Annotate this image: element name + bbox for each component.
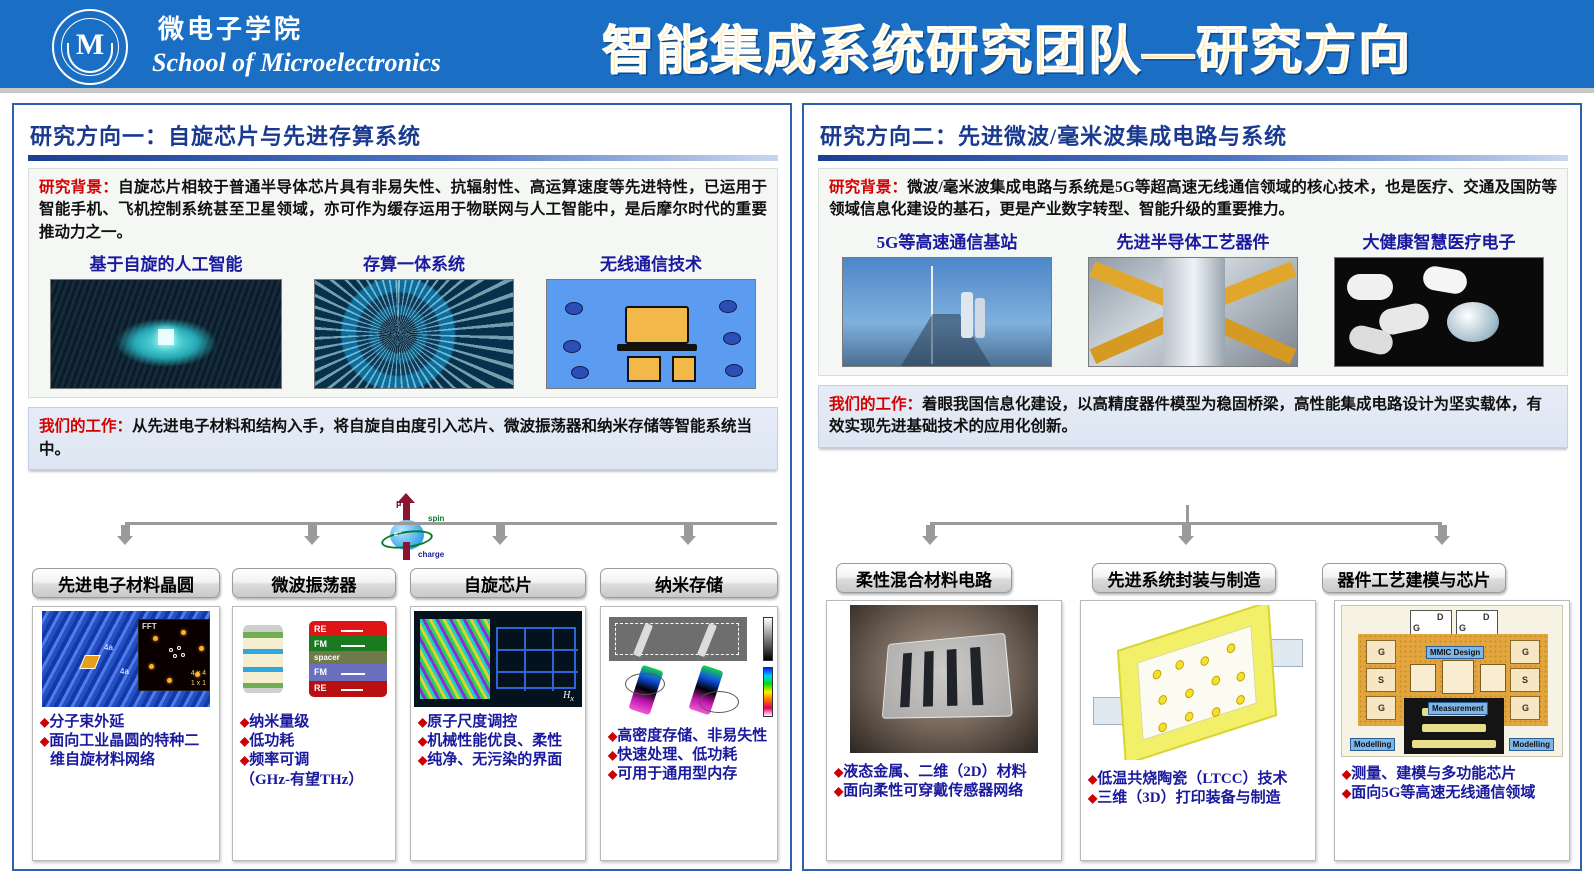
connector-arrow-r1 bbox=[926, 525, 935, 536]
tablet-shape bbox=[627, 356, 661, 382]
bullet-item: ◆三维（3D）打印装备与制造 bbox=[1088, 789, 1309, 808]
spin-charge-diagram: μ spin e⁻ charge bbox=[370, 498, 462, 560]
mmic-design-flow-image: G D S G D S G S G G S G MMIC Design bbox=[1341, 605, 1563, 757]
modelling-tag-right: Modelling bbox=[1509, 738, 1554, 751]
mail-icon bbox=[565, 302, 583, 315]
category-chip-advanced-wafer[interactable]: 先进电子材料晶圆 bbox=[32, 568, 220, 598]
page-title: 智能集成系统研究团队—研究方向 bbox=[441, 9, 1594, 84]
direction-2-rule bbox=[818, 155, 1568, 161]
school-emblem-logo: M bbox=[52, 9, 128, 85]
category-chip-system-packaging[interactable]: 先进系统封装与制造 bbox=[1092, 563, 1276, 593]
pencil-icon bbox=[719, 300, 737, 313]
direction-2-background-text: 研究背景：微波/毫米波集成电路与系统是5G等超高速无线通信领域的核心技术，也是医… bbox=[829, 177, 1557, 222]
card-bullets: ◆纳米量级 ◆低功耗 ◆频率可调 （GHz-有望THz） bbox=[233, 707, 395, 794]
card-figure bbox=[601, 607, 777, 721]
card-advanced-wafer: 4a 4a FFT 4 x 4 1 x 1 ◆分子束外延 ◆面向工业晶圆的特种二… bbox=[32, 606, 220, 861]
direction-1-title: 研究方向一：自旋芯片与先进存算系统 bbox=[30, 119, 778, 151]
ltcc-inner bbox=[1137, 625, 1257, 740]
highlight-ellipse-left bbox=[625, 673, 665, 695]
category-chip-nano-storage[interactable]: 纳米存储 bbox=[600, 568, 778, 598]
flex-sheet bbox=[882, 633, 1013, 719]
background-body: 微波/毫米波集成电路与系统是5G等超高速无线通信领域的核心技术，也是医疗、交通及… bbox=[829, 179, 1557, 218]
ltcc-module-image bbox=[1093, 605, 1303, 760]
card-bullets: ◆高密度存储、非易失性 ◆快速处理、低功耗 ◆可用于通用型内存 bbox=[601, 721, 777, 789]
header-divider bbox=[0, 88, 1594, 93]
grayscale-colorbar bbox=[763, 617, 773, 661]
spin-lattice-image: Hx bbox=[414, 611, 582, 707]
background-label: 研究背景： bbox=[829, 179, 907, 196]
card-nano-storage: ◆高密度存储、非易失性 ◆快速处理、低功耗 ◆可用于通用型内存 bbox=[600, 606, 778, 861]
fft-scale-1x1: 1 x 1 bbox=[191, 680, 206, 687]
domain-wall-image bbox=[603, 611, 775, 721]
category-chip-spin-chip[interactable]: 自旋芯片 bbox=[410, 568, 586, 598]
connector-arrow-4 bbox=[684, 525, 693, 536]
layer-label-fm-bottom: FM bbox=[314, 667, 327, 677]
direction-1-thumbnail-row: 基于自旋的人工智能 存算一体系统 无线通信技术 bbox=[39, 250, 767, 389]
layer-label-re-top: RE bbox=[314, 624, 327, 634]
card-bullets: ◆分子束外延 ◆面向工业晶圆的特种二维自旋材料网络 bbox=[33, 707, 219, 775]
connector-arrow-r2 bbox=[1182, 525, 1191, 536]
nano-pillar bbox=[243, 625, 283, 693]
layer-label-re-bottom: RE bbox=[314, 683, 327, 693]
work-label: 我们的工作： bbox=[39, 418, 132, 435]
direction-1-background-box: 研究背景：自旋芯片相较于普通半导体芯片具有非易失性、抗辐射性、高运算速度等先进特… bbox=[28, 168, 778, 398]
category-chip-microwave-oscillator[interactable]: 微波振荡器 bbox=[232, 568, 396, 598]
bullet-item: ◆液态金属、二维（2D）材料 bbox=[834, 763, 1055, 782]
thumbnail-caption: 基于自旋的人工智能 bbox=[50, 250, 282, 275]
unit-cell-marker bbox=[79, 655, 101, 669]
arrow-right-icon bbox=[341, 645, 365, 647]
bullet-item: ◆纳米量级 bbox=[240, 713, 389, 732]
card-figure: G D S G D S G S G G S G MMIC Design bbox=[1335, 601, 1569, 757]
card-bullets: ◆液态金属、二维（2D）材料 ◆面向柔性可穿戴传感器网络 bbox=[827, 753, 1061, 805]
thumbnail-caption: 无线通信技术 bbox=[546, 250, 756, 275]
card-figure: RE FM spacer FM RE bbox=[233, 607, 395, 707]
page-header: M 微电子学院 School of Microelectronics 智能集成系… bbox=[0, 0, 1594, 93]
fft-scale-4x4: 4 x 4 bbox=[191, 670, 206, 677]
category-chip-device-modeling[interactable]: 器件工艺建模与芯片 bbox=[1322, 563, 1506, 593]
card-bullets: ◆原子尺度调控 ◆机械性能优良、柔性 ◆纯净、无污染的界面 bbox=[411, 707, 585, 775]
bullet-item: ◆机械性能优良、柔性 bbox=[418, 732, 579, 751]
highlight-ellipse-right bbox=[699, 691, 739, 713]
arrow-left-icon bbox=[341, 630, 363, 632]
laptop-shape bbox=[625, 306, 689, 344]
phone-shape bbox=[672, 356, 696, 382]
thumbnail-caption: 存算一体系统 bbox=[314, 250, 514, 275]
doc-icon bbox=[723, 332, 741, 345]
bullet-item: ◆分子束外延 bbox=[40, 713, 213, 732]
direction-1-work-text: 我们的工作：从先进电子材料和结构入手，将自旋自由度引入芯片、微波振荡器和纳米存储… bbox=[39, 416, 767, 461]
card-system-packaging: ◆低温共烧陶瓷（LTCC）技术 ◆三维（3D）打印装备与制造 bbox=[1080, 600, 1316, 861]
card-bullets: ◆测量、建模与多功能芯片 ◆面向5G等高速无线通信领域 bbox=[1335, 757, 1569, 807]
school-name-block: 微电子学院 School of Microelectronics bbox=[152, 15, 441, 78]
bullet-item: ◆原子尺度调控 bbox=[418, 713, 579, 732]
thumbnail-caption: 先进半导体工艺器件 bbox=[1088, 228, 1298, 253]
direction-2-title: 研究方向二：先进微波/毫米波集成电路与系统 bbox=[820, 119, 1568, 151]
direction-1-background-text: 研究背景：自旋芯片相较于普通半导体芯片具有非易失性、抗辐射性、高运算速度等先进特… bbox=[39, 177, 767, 244]
modelling-tag-left: Modelling bbox=[1350, 738, 1395, 751]
stm-lattice-image: 4a 4a FFT 4 x 4 1 x 1 bbox=[42, 611, 210, 707]
card-figure: Hx bbox=[411, 607, 585, 707]
card-flexible-circuit: ◆液态金属、二维（2D）材料 ◆面向柔性可穿戴传感器网络 bbox=[826, 600, 1062, 861]
connector-arrow-3 bbox=[496, 525, 505, 536]
crystal-lattice bbox=[420, 619, 490, 699]
school-name-en: School of Microelectronics bbox=[152, 47, 441, 78]
bullet-item: ◆频率可调 bbox=[240, 751, 389, 770]
bullet-item: ◆面向柔性可穿戴传感器网络 bbox=[834, 782, 1055, 801]
laptop-base bbox=[617, 344, 697, 351]
category-chip-flexible-circuit[interactable]: 柔性混合材料电路 bbox=[836, 563, 1012, 593]
card-figure bbox=[1081, 601, 1315, 760]
school-name-cn: 微电子学院 bbox=[158, 15, 441, 45]
card-figure bbox=[827, 601, 1061, 753]
thumbnail-caption: 大健康智慧医疗电子 bbox=[1334, 228, 1544, 253]
thumbnail-ai-spin: 基于自旋的人工智能 bbox=[50, 250, 282, 389]
direction-2-background-box: 研究背景：微波/毫米波集成电路与系统是5G等超高速无线通信领域的核心技术，也是医… bbox=[818, 168, 1568, 376]
background-label: 研究背景： bbox=[39, 179, 118, 196]
thumbnail-semiconductor-device: 先进半导体工艺器件 bbox=[1088, 228, 1298, 367]
card-device-modeling: G D S G D S G S G G S G MMIC Design bbox=[1334, 600, 1570, 861]
connector-arrow-1 bbox=[121, 525, 130, 536]
rainbow-colorbar bbox=[763, 667, 773, 717]
spin-label-charge: charge bbox=[418, 550, 444, 559]
basestation-image bbox=[842, 257, 1052, 367]
connector-horizontal-left bbox=[125, 522, 777, 525]
thumbnail-caption: 5G等高速通信基站 bbox=[842, 228, 1052, 253]
magnetic-stack-image: RE FM spacer FM RE bbox=[235, 611, 393, 707]
circuit-grid bbox=[496, 627, 576, 689]
direction-1-work-box: 我们的工作：从先进电子材料和结构入手，将自旋自由度引入芯片、微波振荡器和纳米存储… bbox=[28, 407, 778, 470]
measurement-tag: Measurement bbox=[1428, 702, 1488, 715]
bullet-item: ◆面向工业晶圆的特种二维自旋材料网络 bbox=[40, 732, 213, 770]
connector-arrow-2 bbox=[308, 525, 317, 536]
mmic-design-tag: MMIC Design bbox=[1426, 646, 1484, 659]
fft-label: FFT bbox=[142, 622, 157, 631]
wireless-network-image bbox=[546, 279, 756, 389]
arrow-left-icon-2 bbox=[341, 689, 363, 691]
thumbnail-wireless: 无线通信技术 bbox=[546, 250, 756, 389]
spin-label-mu: μ bbox=[396, 498, 402, 508]
field-label-h: Hx bbox=[563, 690, 574, 703]
bullet-item: ◆低温共烧陶瓷（LTCC）技术 bbox=[1088, 770, 1309, 789]
bullet-note: （GHz-有望THz） bbox=[240, 771, 389, 790]
bullet-item: ◆快速处理、低功耗 bbox=[608, 746, 771, 765]
direction-2-work-box: 我们的工作：着眼我国信息化建设，以高精度器件模型为稳固桥梁，高性能集成电路设计为… bbox=[818, 385, 1568, 448]
card-microwave-oscillator: RE FM spacer FM RE ◆纳米量级 ◆低功耗 ◆频率可调 （GHz… bbox=[232, 606, 396, 861]
lower-arrow-icon bbox=[403, 542, 410, 560]
thumbnail-5g-basestation: 5G等高速通信基站 bbox=[842, 228, 1052, 367]
card-figure: 4a 4a FFT 4 x 4 1 x 1 bbox=[33, 607, 219, 707]
direction-2-work-text: 我们的工作：着眼我国信息化建设，以高精度器件模型为稳固桥梁，高性能集成电路设计为… bbox=[829, 394, 1557, 439]
card-bullets: ◆低温共烧陶瓷（LTCC）技术 ◆三维（3D）打印装备与制造 bbox=[1081, 760, 1315, 812]
connector-stem-right bbox=[1186, 505, 1189, 525]
bullet-item: ◆测量、建模与多功能芯片 bbox=[1342, 765, 1563, 784]
bullet-item: ◆纯净、无污染的界面 bbox=[418, 751, 579, 770]
thumbnail-medical-electronics: 大健康智慧医疗电子 bbox=[1334, 228, 1544, 367]
bullet-item: ◆低功耗 bbox=[240, 732, 389, 751]
direction-1-rule bbox=[28, 155, 778, 161]
spin-label-electron: e⁻ bbox=[394, 530, 402, 538]
card-spin-chip: Hx ◆原子尺度调控 ◆机械性能优良、柔性 ◆纯净、无污染的界面 bbox=[410, 606, 586, 861]
ltcc-board bbox=[1117, 605, 1277, 760]
clock-icon bbox=[571, 366, 589, 379]
bullet-item: ◆可用于通用型内存 bbox=[608, 765, 771, 784]
direction-2-thumbnail-row: 5G等高速通信基站 先进半导体工艺器件 大 bbox=[829, 228, 1557, 367]
pills-image bbox=[1334, 257, 1544, 367]
layer-stack: RE FM spacer FM RE bbox=[309, 621, 387, 697]
calendar-icon bbox=[563, 340, 581, 353]
thumbnail-compute-in-memory: 存算一体系统 bbox=[314, 250, 514, 389]
arrow-right-icon-2 bbox=[341, 673, 365, 675]
brain-chip-image bbox=[50, 279, 282, 389]
data-disk-image bbox=[314, 279, 514, 389]
background-body: 自旋芯片相较于普通半导体芯片具有非易失性、抗辐射性、高运算速度等先进特性，已运用… bbox=[39, 179, 767, 241]
layer-label-spacer: spacer bbox=[314, 653, 340, 662]
bullet-item: ◆高密度存储、非易失性 bbox=[608, 727, 771, 746]
work-body: 着眼我国信息化建设，以高精度器件模型为稳固桥梁，高性能集成电路设计为坚实载体，有… bbox=[829, 396, 1542, 435]
fft-inset: FFT 4 x 4 1 x 1 bbox=[138, 619, 210, 691]
layer-label-fm-top: FM bbox=[314, 639, 327, 649]
phone-call-icon bbox=[725, 364, 743, 377]
work-body: 从先进电子材料和结构入手，将自旋自由度引入芯片、微波振荡器和纳米存储等智能系统当… bbox=[39, 418, 752, 457]
flexible-substrate-image bbox=[850, 605, 1038, 753]
probe-station-image bbox=[1088, 257, 1298, 367]
connector-arrow-r3 bbox=[1438, 525, 1447, 536]
work-label: 我们的工作： bbox=[829, 396, 922, 413]
stm-label-4a-2: 4a bbox=[120, 667, 129, 676]
bullet-item: ◆面向5G等高速无线通信领域 bbox=[1342, 784, 1563, 803]
stm-label-4a-1: 4a bbox=[104, 643, 113, 652]
